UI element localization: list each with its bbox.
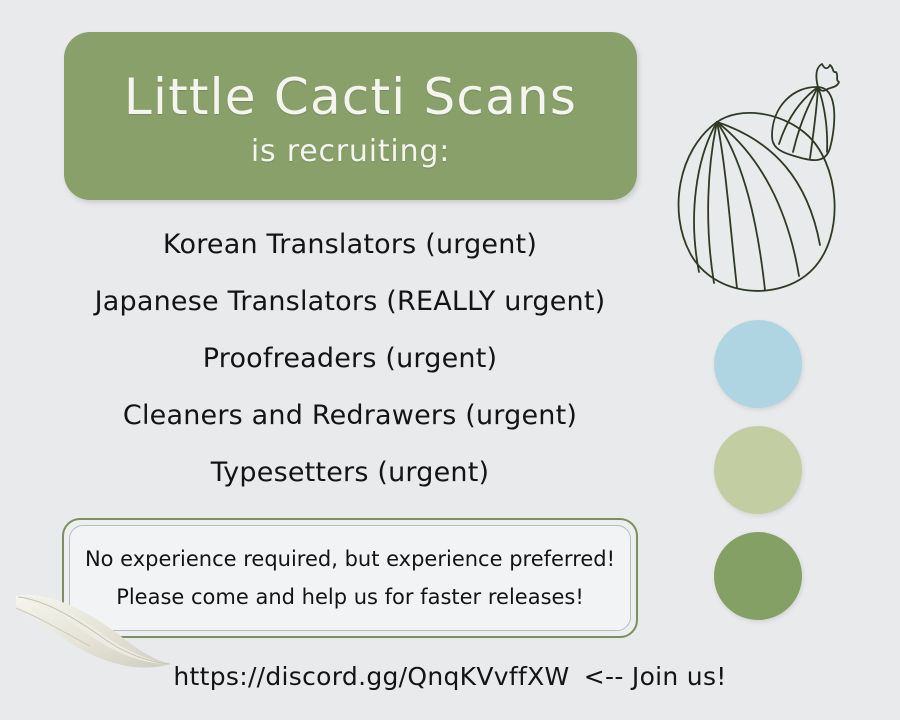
- role-item-japanese-translators: Japanese Translators (REALLY urgent): [95, 273, 606, 330]
- color-swatch-group: [714, 320, 802, 638]
- recruitment-poster: Little Cacti Scans is recruiting:: [0, 0, 900, 720]
- discord-link-line[interactable]: https://discord.gg/QnqKVvffXW <-- Join u…: [0, 662, 900, 691]
- note-line-invitation: Please come and help us for faster relea…: [116, 578, 584, 616]
- page-title: Little Cacti Scans: [124, 71, 577, 123]
- swatch-olive-green: [714, 532, 802, 620]
- cactus-illustration: [660, 40, 895, 305]
- ribbon-decoration: [0, 556, 184, 674]
- ribbon-icon: [0, 556, 184, 674]
- role-item-proofreaders: Proofreaders (urgent): [203, 330, 497, 387]
- role-item-typesetters: Typesetters (urgent): [211, 444, 489, 501]
- roles-list: Korean Translators (urgent) Japanese Tra…: [40, 216, 660, 501]
- discord-url[interactable]: https://discord.gg/QnqKVvffXW: [173, 662, 569, 691]
- banner-subtitle: is recruiting:: [251, 135, 450, 168]
- header-banner: Little Cacti Scans is recruiting:: [64, 32, 637, 200]
- swatch-light-blue: [714, 320, 802, 408]
- swatch-pale-sage: [714, 426, 802, 514]
- cactus-icon: [660, 40, 895, 305]
- role-item-cleaners-and-redrawers: Cleaners and Redrawers (urgent): [123, 387, 577, 444]
- role-item-korean-translators: Korean Translators (urgent): [163, 216, 537, 273]
- join-call-to-action: <-- Join us!: [584, 662, 727, 691]
